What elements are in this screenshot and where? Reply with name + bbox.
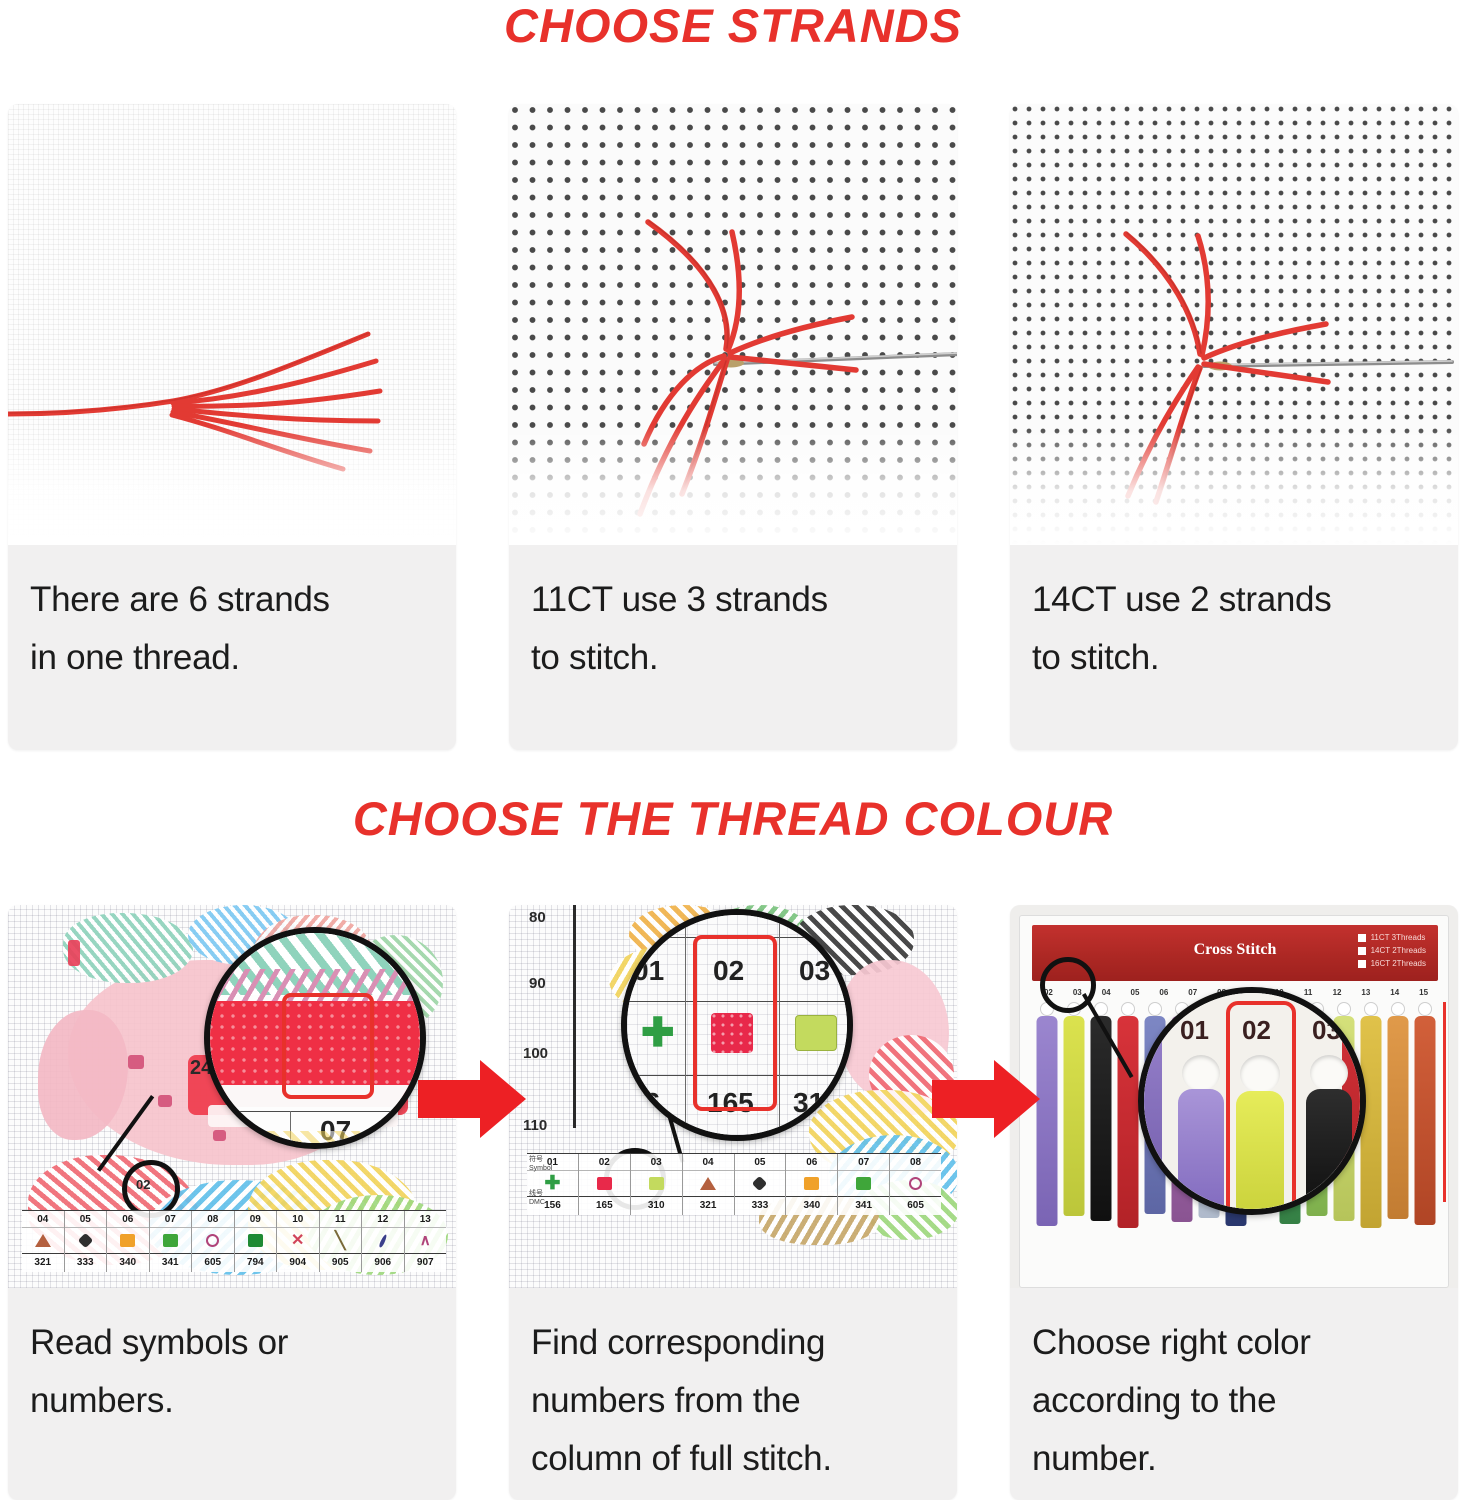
caption-find-numbers: Find corresponding numbers from the colu… [509,1288,957,1488]
legend-symbol [235,1228,277,1254]
legend-column: 05 333 [65,1211,108,1272]
punch-hole [1121,1002,1135,1016]
caption-14ct: 14CT use 2 strands to stitch. [1010,545,1458,687]
skein-number: 15 [1409,988,1438,997]
checklist-row: 14CT 2Threads [1358,946,1426,955]
legend-column: 03 310 [631,1154,683,1215]
fabric-fade [1010,425,1458,545]
legend-column: 04 321 [683,1154,735,1215]
floss-hank [1414,1016,1435,1225]
checkbox-icon [1358,960,1366,968]
floss-hank [1178,1089,1224,1215]
floss-hank [1064,1016,1085,1216]
skein-number: 04 [1092,988,1121,997]
floss-hank [1306,1089,1352,1215]
checkbox-icon [1358,934,1366,942]
thread-count-checklist: 11CT 3Threads 14CT 2Threads 16CT 2Thread… [1358,933,1426,972]
card-choose-color: Cross Stitch 11CT 3Threads 14CT 2Threads [1010,905,1458,1500]
magnifier-symbol-square-icon [795,1015,837,1051]
punch-hole [1418,1002,1432,1016]
photo-11ct-aida [509,104,957,545]
skein [1061,1000,1088,1281]
legend-column: 13 ∧ 907 [405,1211,447,1272]
flow-arrow-2 [932,1052,1044,1157]
fabric-fade [8,425,456,545]
magnifier-choose-color: 01 02 03 [1138,987,1366,1215]
photo-six-strands [8,104,456,545]
magnifier-find-numbers: 01 ✚ 56 02 165 03 310 [621,909,853,1141]
legend-symbol: ╲ [320,1228,362,1254]
magnifier-highlight-box [282,993,374,1099]
legend-table-left: 04 321 05 333 06 340 07 [22,1210,446,1272]
legend-column: 10 ✕ 904 [277,1211,320,1272]
card-six-strands: There are 6 strands in one thread. [8,104,456,750]
section-heading-choose-thread-colour: CHOOSE THE THREAD COLOUR [0,793,1466,845]
checklist-row: 16CT 2Threads [1358,959,1426,968]
legend-column: 12 906 [362,1211,405,1272]
skein [1384,1000,1411,1281]
magnifier-target-label: 02 [136,1177,150,1192]
legend-symbol [786,1171,837,1197]
floss-hank [1091,1016,1112,1221]
skein [1411,1000,1438,1281]
magnifier-thread-number: 310 [793,1087,840,1119]
legend-symbol: ∧ [405,1228,447,1254]
legend-column: 02 165 [579,1154,631,1215]
legend-column: 08 605 [192,1211,235,1272]
legend-symbol [362,1228,404,1254]
card-14ct: 14CT use 2 strands to stitch. [1010,104,1458,750]
skein-number: 14 [1380,988,1409,997]
punch-hole [1391,1002,1405,1016]
skein [1115,1000,1142,1281]
photo-pattern-chart: 24 02 [8,905,456,1288]
caption-choose-color: Choose right color according to the numb… [1010,1288,1458,1488]
legend-symbol [192,1228,234,1254]
infographic-page: CHOOSE STRANDS [0,0,1466,1500]
magnifier-read-symbols: 07 [204,927,426,1149]
checklist-row: 11CT 3Threads [1358,933,1426,942]
legend-symbol [631,1171,682,1197]
section-heading-choose-strands: CHOOSE STRANDS [0,0,1466,52]
photo-thread-card: Cross Stitch 11CT 3Threads 14CT 2Threads [1010,905,1458,1288]
floss-hank [1387,1016,1408,1219]
legend-column: 05 333 [735,1154,787,1215]
magnifier-column-header: 03 [799,955,830,987]
legend-symbol [735,1171,786,1197]
legend-symbol [107,1228,149,1254]
caption-read-symbols: Read symbols or numbers. [8,1288,456,1430]
legend-symbol [65,1228,107,1254]
magnifier-thread-number: 56 [629,1087,660,1119]
floss-hank [1118,1016,1139,1228]
legend-column: 08 605 [890,1154,941,1215]
legend-column: 09 794 [235,1211,278,1272]
legend-column: 06 340 [107,1211,150,1272]
legend-symbol [22,1228,64,1254]
punch-hole [1364,1002,1378,1016]
flow-arrow-1 [418,1052,530,1157]
magnifier-highlight-box [693,935,777,1111]
magnifier-column-header: 01 [1180,1015,1209,1046]
card-read-symbols: 24 02 [8,905,456,1500]
legend-column: 06 340 [786,1154,838,1215]
magnifier-symbol-plus-icon: ✚ [641,1013,675,1053]
magnifier-column-header: 01 [633,955,664,987]
punch-hole [1310,1055,1348,1091]
fabric-fade [509,425,957,545]
thread-colour-row: 24 02 [0,905,1466,1500]
legend-column: 11 ╲ 905 [320,1211,363,1272]
photo-14ct-aida [1010,104,1458,545]
photo-chart-with-axis: 80 90 100 110 [509,905,957,1288]
legend-column: 07 341 [150,1211,193,1272]
legend-symbol [890,1171,941,1197]
card-find-numbers: 80 90 100 110 [509,905,957,1500]
legend-symbol [579,1171,630,1197]
legend-table-middle: 01 ✚ 156 02 165 03 310 0 [527,1153,941,1215]
legend-column: 04 321 [22,1211,65,1272]
legend-column: 07 341 [838,1154,890,1215]
checkbox-icon [1358,947,1366,955]
caption-11ct: 11CT use 3 strands to stitch. [509,545,957,687]
card-11ct: 11CT use 3 strands to stitch. [509,104,957,750]
magnifier-highlight-box [1226,1001,1296,1215]
red-marker-line [1443,1002,1446,1202]
magnifier-target-ring [1040,957,1096,1013]
legend-symbol: ✕ [277,1228,319,1254]
magnifier-column-header: 03 [1312,1015,1341,1046]
legend-symbol [150,1228,192,1254]
skein [1357,1000,1384,1281]
legend-symbol [683,1171,734,1197]
legend-symbol [838,1171,889,1197]
punch-hole [1182,1055,1220,1091]
strands-row: There are 6 strands in one thread. [0,104,1466,750]
caption-six-strands: There are 6 strands in one thread. [8,545,456,687]
legend-row-labels: 符号Symbol 线号DMC [529,1155,573,1207]
